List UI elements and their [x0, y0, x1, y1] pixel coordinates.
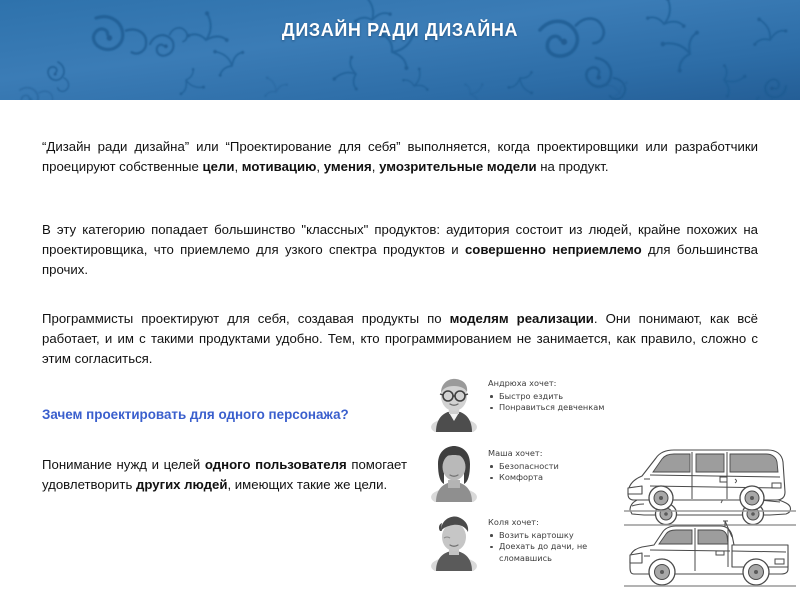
- paragraph-2: В эту категорию попадает большинство "кл…: [42, 220, 758, 280]
- paragraph-3: Программисты проектируют для себя, созда…: [42, 309, 758, 369]
- woman-with-bob-haircut-avatar: [428, 444, 480, 502]
- persona-answer-text: Понимание нужд и целей одного пользовате…: [42, 455, 407, 495]
- persona-text-andryukha: Андрюха хочет: Быстро ездитьПонравиться …: [488, 374, 604, 414]
- slide-title: ДИЗАЙН РАДИ ДИЗАЙНА: [0, 0, 800, 100]
- persona-want-item: Возить картошку: [488, 530, 613, 542]
- persona-item-masha: Маша хочет: БезопасностиКомфорта: [428, 444, 613, 512]
- persona-item-kolya: Коля хочет: Возить картошкуДоехать до да…: [428, 513, 613, 581]
- persona-wants-list: Возить картошкуДоехать до дачи, не слома…: [488, 530, 613, 565]
- persona-text-masha: Маша хочет: БезопасностиКомфорта: [488, 444, 559, 484]
- persona-question-block: Зачем проектировать для одного персонажа…: [42, 405, 407, 495]
- persona-wants-list: БезопасностиКомфорта: [488, 461, 559, 484]
- persona-want-item: Понравиться девченкам: [488, 402, 604, 414]
- persona-want-item: Комфорта: [488, 472, 559, 484]
- persona-title: Маша хочет:: [488, 448, 559, 460]
- persona-title: Андрюха хочет:: [488, 378, 604, 390]
- minivan-illustration: [620, 442, 800, 520]
- persona-text-kolya: Коля хочет: Возить картошкуДоехать до да…: [488, 513, 613, 564]
- persona-title: Коля хочет:: [488, 517, 613, 529]
- persona-wants-list: Быстро ездитьПонравиться девченкам: [488, 391, 604, 414]
- pickup-truck-illustration: [620, 515, 800, 595]
- persona-want-item: Доехать до дачи, не сломавшись: [488, 541, 613, 564]
- paragraph-1: “Дизайн ради дизайна” или “Проектировани…: [42, 137, 758, 177]
- persona-item-andryukha: Андрюха хочет: Быстро ездитьПонравиться …: [428, 374, 613, 442]
- slide-header-banner: ДИЗАЙН РАДИ ДИЗАЙНА: [0, 0, 800, 100]
- man-with-glasses-avatar: [428, 374, 480, 432]
- persona-vehicle-figure: Андрюха хочет: Быстро ездитьПонравиться …: [428, 372, 800, 600]
- man-with-cap-avatar: [428, 513, 480, 571]
- persona-want-item: Быстро ездить: [488, 391, 604, 403]
- persona-question-heading: Зачем проектировать для одного персонажа…: [42, 405, 407, 425]
- vehicle-list: [620, 372, 800, 600]
- persona-list: Андрюха хочет: Быстро ездитьПонравиться …: [428, 372, 613, 600]
- persona-want-item: Безопасности: [488, 461, 559, 473]
- slide-body: “Дизайн ради дизайна” или “Проектировани…: [0, 100, 800, 600]
